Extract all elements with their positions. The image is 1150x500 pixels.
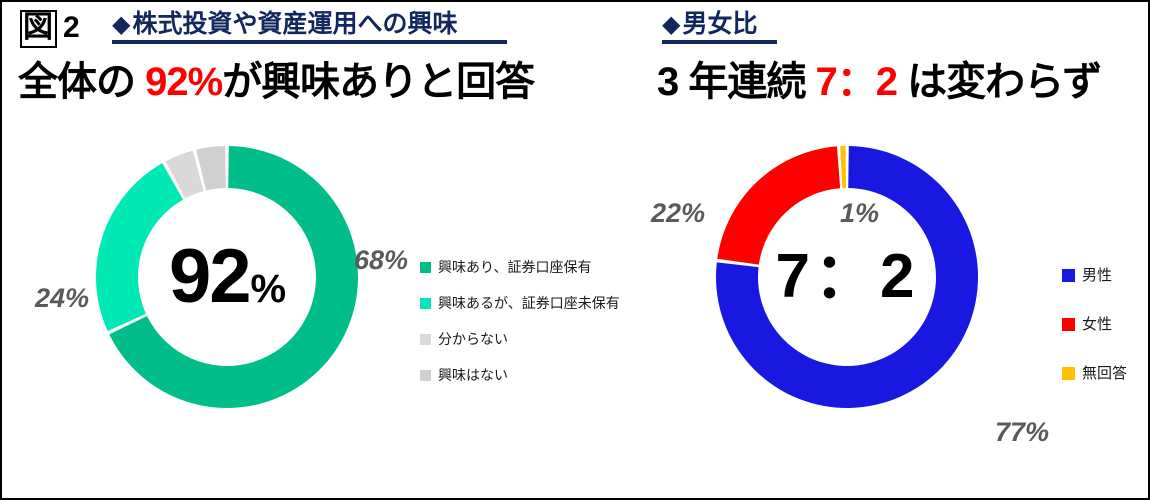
figure-badge-number: 2 <box>63 13 81 43</box>
legend-swatch-icon <box>420 298 431 309</box>
slice-label-24: 24% <box>35 285 89 312</box>
legend-item-interest-0[interactable]: 興味あり、証券口座保有 <box>420 260 620 274</box>
section-title-right: ◆男女比 <box>662 12 757 37</box>
legend-label-gender-1: 女性 <box>1082 317 1112 332</box>
legend-swatch-icon <box>1062 318 1075 331</box>
legend-item-interest-1[interactable]: 興味あるが、証券口座未保有 <box>420 296 620 310</box>
legend-swatch-icon <box>1062 269 1075 282</box>
donut-slice <box>717 146 840 264</box>
donut-slice <box>840 146 846 188</box>
legend-swatch-icon <box>420 334 431 345</box>
legend-label-gender-2: 無回答 <box>1082 366 1127 381</box>
legend-item-gender-1[interactable]: 女性 <box>1062 317 1127 332</box>
donut-slice <box>96 163 183 331</box>
donut-chart-gender: 7：2 <box>714 144 980 410</box>
donut-chart-interest: 92% <box>94 144 360 410</box>
legend-item-gender-0[interactable]: 男性 <box>1062 268 1127 283</box>
legend-interest: 興味あり、証券口座保有 興味あるが、証券口座未保有 分からない 興味はない <box>420 260 620 404</box>
legend-swatch-icon <box>420 370 431 381</box>
donut-chart-interest-svg <box>94 144 360 410</box>
headline-left: 全体の 92%が興味ありと回答 <box>18 62 534 102</box>
section-rule-left <box>112 40 507 44</box>
headline-right-pre: 3 年連続 <box>657 60 815 104</box>
section-title-right-text: 男女比 <box>682 10 757 38</box>
headline-left-pre: 全体の <box>18 60 145 104</box>
legend-label-interest-3: 興味はない <box>438 368 508 382</box>
slice-label-68: 68% <box>354 247 408 274</box>
section-title-left: ◆株式投資や資産運用への興味 <box>112 12 457 37</box>
figure-badge: 図2 <box>20 10 81 48</box>
legend-swatch-icon <box>420 262 431 273</box>
section-rule-right <box>662 40 777 44</box>
diamond-bullet-icon: ◆ <box>112 13 130 37</box>
headline-right: 3 年連続 7：2 は変わらず <box>657 62 1101 102</box>
legend-item-interest-3[interactable]: 興味はない <box>420 368 620 382</box>
legend-item-gender-2[interactable]: 無回答 <box>1062 366 1127 381</box>
section-title-left-text: 株式投資や資産運用への興味 <box>132 10 457 38</box>
slice-label-1: 1% <box>840 200 879 227</box>
donut-chart-gender-svg <box>714 144 980 410</box>
infographic-page: 図2 ◆株式投資や資産運用への興味 全体の 92%が興味ありと回答 ◆男女比 3… <box>0 0 1150 500</box>
headline-right-highlight: 7：2 <box>815 60 897 104</box>
diamond-bullet-icon: ◆ <box>662 13 680 37</box>
figure-badge-char: 図 <box>20 10 57 48</box>
legend-gender: 男性 女性 無回答 <box>1062 268 1127 415</box>
legend-label-interest-2: 分からない <box>438 332 508 346</box>
legend-label-interest-1: 興味あるが、証券口座未保有 <box>438 296 620 310</box>
legend-swatch-icon <box>1062 367 1075 380</box>
slice-label-77: 77% <box>995 419 1049 446</box>
legend-label-gender-0: 男性 <box>1082 268 1112 283</box>
legend-label-interest-0: 興味あり、証券口座保有 <box>438 260 591 274</box>
slice-label-22: 22% <box>651 200 705 227</box>
headline-left-highlight: 92% <box>145 60 222 104</box>
headline-right-post: は変わらず <box>897 60 1101 104</box>
headline-left-post: が興味ありと回答 <box>222 60 534 104</box>
legend-item-interest-2[interactable]: 分からない <box>420 332 620 346</box>
